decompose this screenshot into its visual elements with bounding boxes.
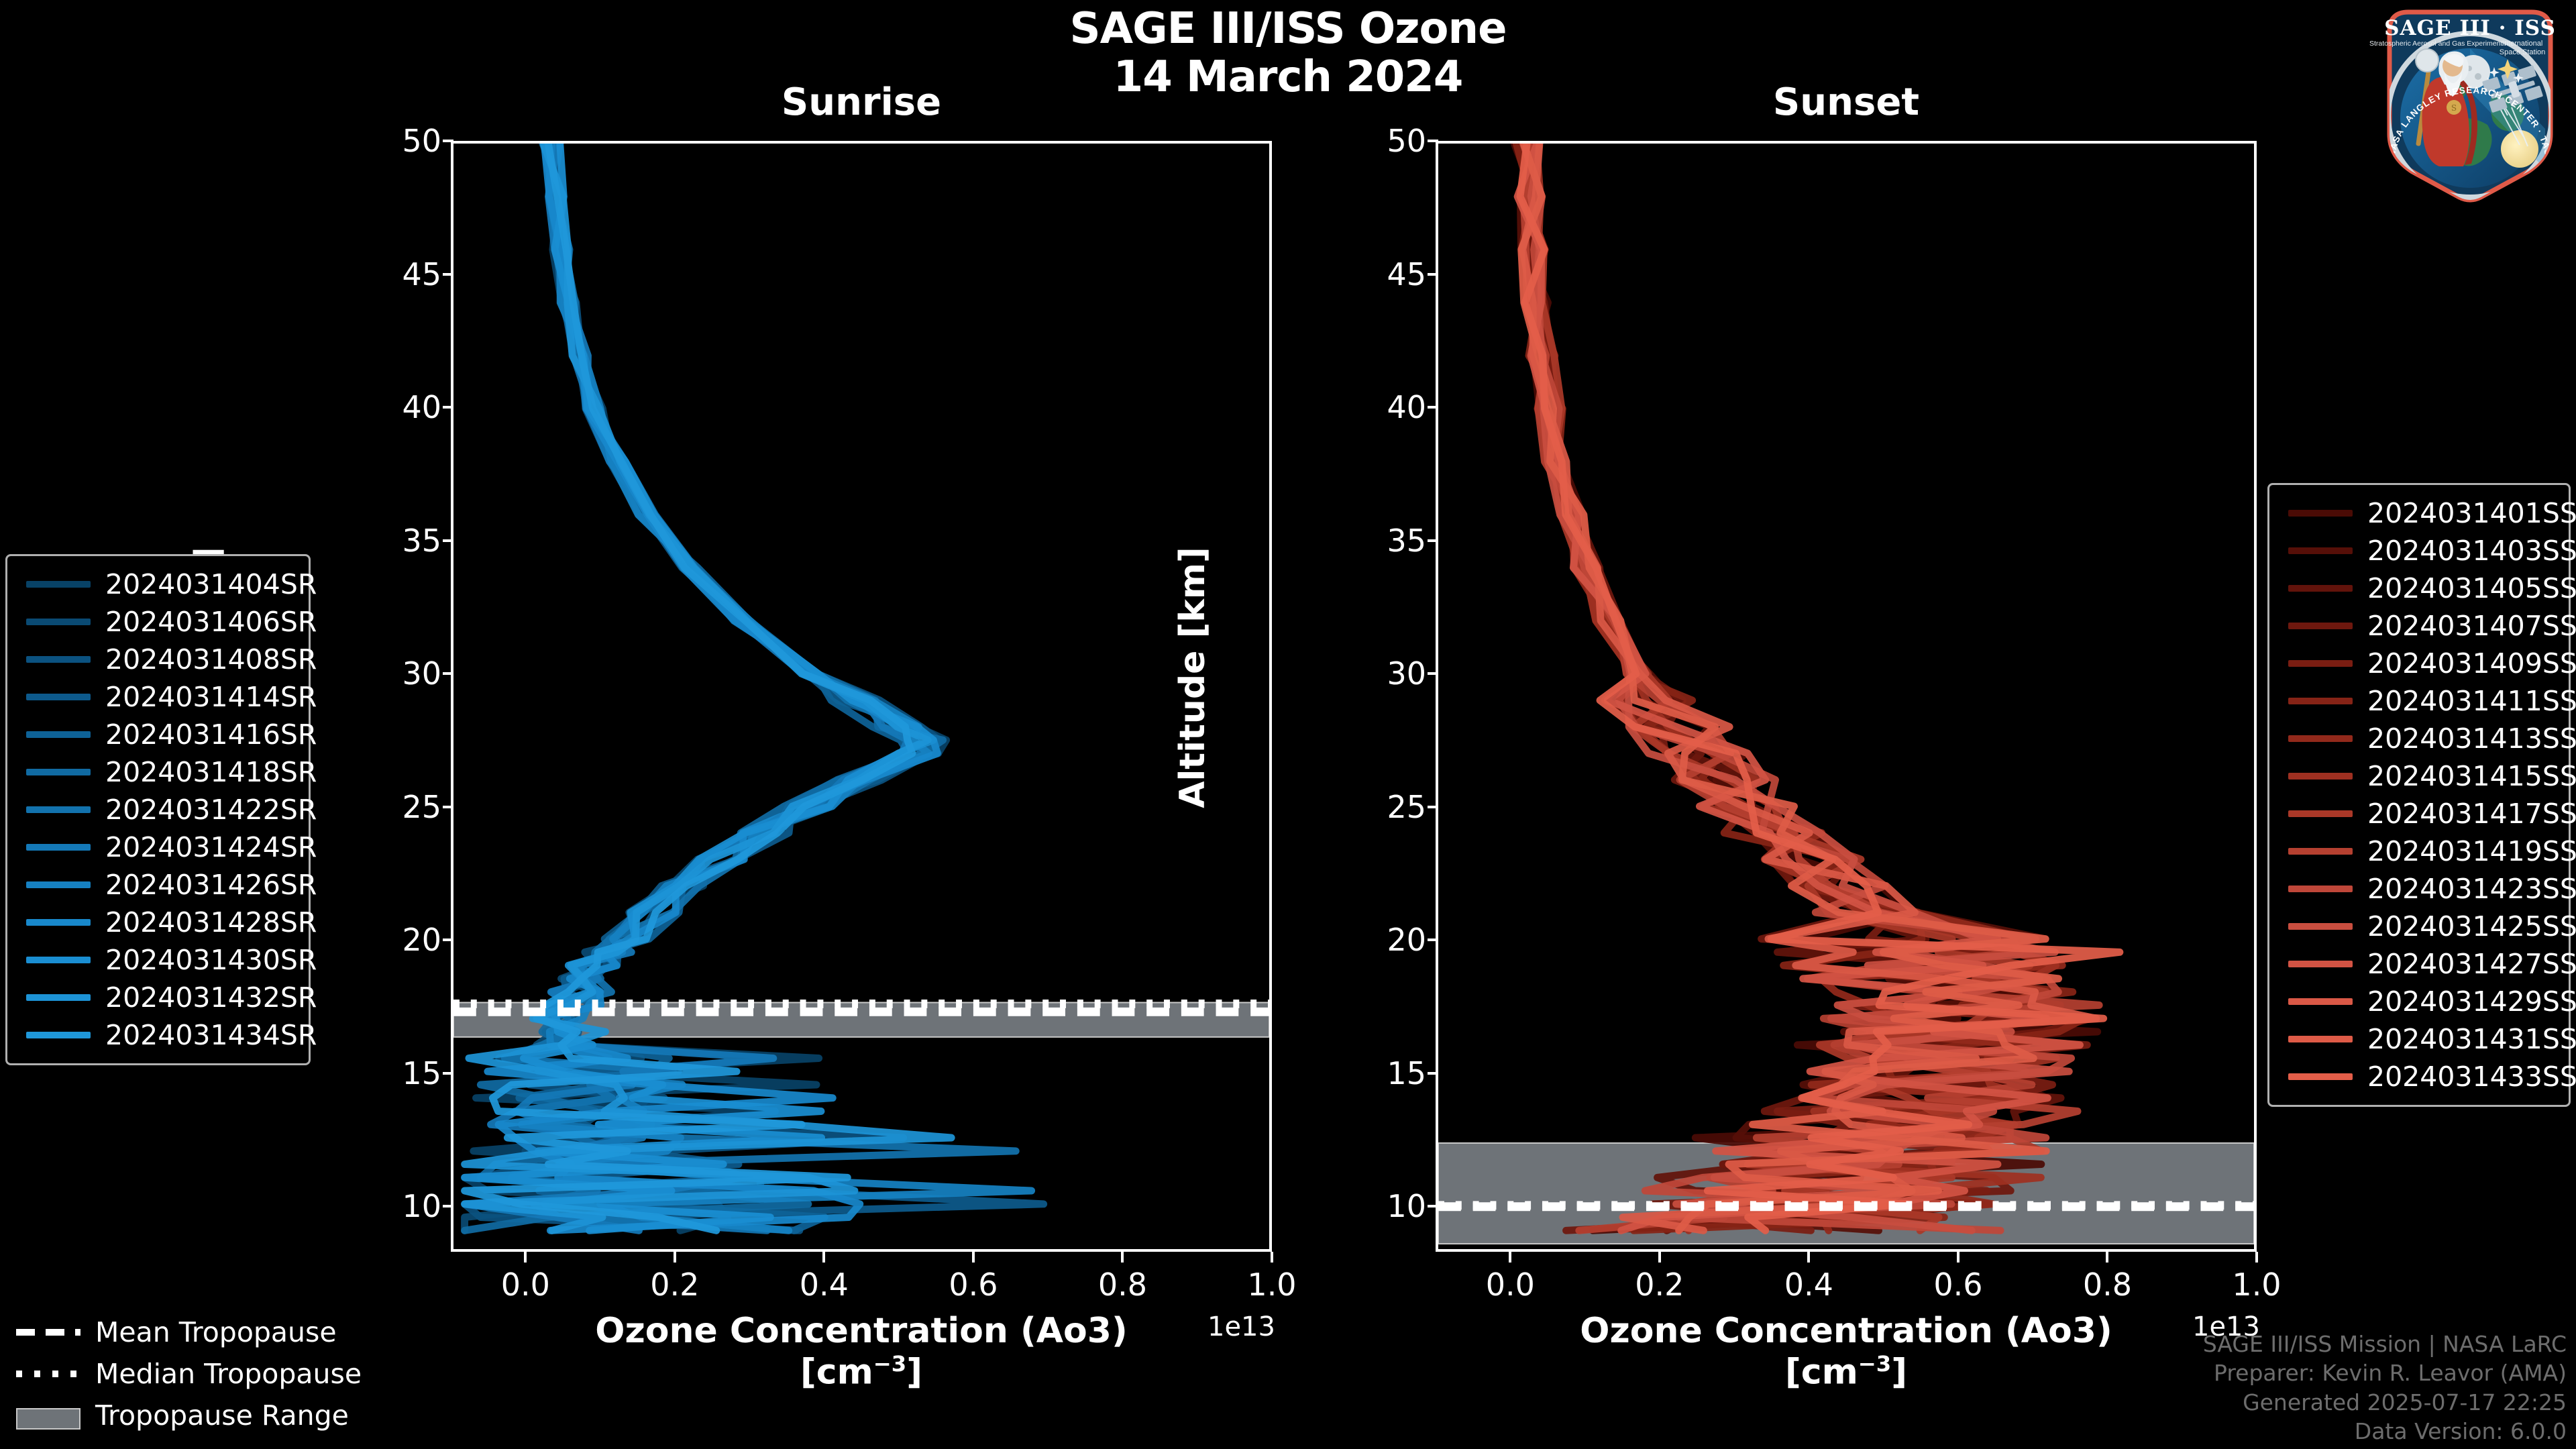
sunrise-profile-line — [504, 144, 1016, 1230]
sunset-legend-color-swatch — [2288, 623, 2353, 629]
sunrise-ytick-label: 20 — [402, 922, 441, 958]
sunrise-ytick-mark — [443, 406, 453, 409]
sunset-legend-color-swatch — [2288, 885, 2353, 892]
median-tropopause-dot-icon — [16, 1366, 80, 1381]
sunset-legend-item[interactable]: 2024031405SS — [2279, 570, 2557, 607]
sunset-legend-color-swatch — [2288, 923, 2353, 930]
sunrise-legend-color-swatch — [26, 694, 91, 700]
sunset-legend-label: 2024031407SS — [2367, 610, 2576, 642]
sunset-legend-color-swatch — [2288, 998, 2353, 1005]
footer-line-3: Generated 2025-07-17 22:25 — [2203, 1388, 2567, 1417]
sunset-legend-label: 2024031415SS — [2367, 760, 2576, 792]
sunset-xtick-mark — [1807, 1252, 1810, 1263]
sunset-ytick-mark — [1428, 140, 1438, 142]
sunrise-legend-label: 2024031416SR — [105, 718, 317, 751]
sunset-legend-item[interactable]: 2024031401SS — [2279, 494, 2557, 532]
sunrise-ytick-label: 35 — [402, 523, 441, 559]
sunrise-legend-color-swatch — [26, 994, 91, 1001]
sunset-xtick-mark — [1957, 1252, 1960, 1263]
sunset-profile-line — [1531, 144, 2069, 1230]
sunset-xtick-label: 0.0 — [1486, 1267, 1535, 1303]
sunset-ytick-mark — [1428, 406, 1438, 409]
sunset-legend-item[interactable]: 2024031409SS — [2279, 645, 2557, 682]
sunset-ytick-label: 50 — [1387, 123, 1426, 159]
footer-attribution: SAGE III/ISS Mission | NASA LaRC Prepare… — [2203, 1330, 2567, 1446]
sunset-ytick-label: 20 — [1387, 922, 1426, 958]
sunset-legend-label: 2024031427SS — [2367, 948, 2576, 980]
sunrise-legend-label: 2024031434SR — [105, 1019, 317, 1051]
sunset-legend-item[interactable]: 2024031429SS — [2279, 983, 2557, 1020]
tropopause-legend-item[interactable]: Mean Tropopause — [9, 1311, 385, 1353]
tropopause-legend-label: Tropopause Range — [95, 1399, 349, 1432]
sunrise-legend-item[interactable]: 2024031408SR — [17, 641, 297, 678]
sunrise-ytick-mark — [443, 273, 453, 276]
sunset-legend-item[interactable]: 2024031433SS — [2279, 1058, 2557, 1095]
sunset-legend-color-swatch — [2288, 848, 2353, 855]
logo-subtitle-right-1: International — [2502, 40, 2543, 48]
sunrise-xtick-mark — [674, 1252, 676, 1263]
sunset-legend-item[interactable]: 2024031413SS — [2279, 720, 2557, 757]
sunset-legend-label: 2024031405SS — [2367, 572, 2576, 604]
sunset-profile-line — [1527, 144, 2046, 1230]
logo-subtitle-right-2: Space Station — [2500, 48, 2546, 56]
sunset-legend-label: 2024031417SS — [2367, 798, 2576, 830]
sunrise-legend-item[interactable]: 2024031432SR — [17, 979, 297, 1016]
sunset-xtick-label: 1.0 — [2232, 1267, 2281, 1303]
tropopause-legend-item[interactable]: Tropopause Range — [9, 1395, 385, 1436]
sunrise-legend-color-swatch — [26, 619, 91, 625]
sunset-legend-color-swatch — [2288, 1036, 2353, 1042]
sunrise-legend-label: 2024031428SR — [105, 906, 317, 938]
footer-line-1: SAGE III/ISS Mission | NASA LaRC — [2203, 1330, 2567, 1359]
sunrise-legend-color-swatch — [26, 731, 91, 738]
sunset-ytick-mark — [1428, 938, 1438, 941]
sunset-legend-item[interactable]: 2024031403SS — [2279, 532, 2557, 570]
logo-title: SAGE III · ISS — [2384, 16, 2556, 40]
sunrise-legend-label: 2024031418SR — [105, 756, 317, 788]
sunset-ytick-label: 10 — [1387, 1188, 1426, 1224]
sunset-legend-color-swatch — [2288, 1073, 2353, 1080]
sunrise-xtick-label: 0.4 — [800, 1267, 849, 1303]
sunrise-xtick-label: 0.0 — [501, 1267, 550, 1303]
sunrise-xlabel-line2: [cm−3] — [451, 1352, 1272, 1393]
sunrise-ytick-mark — [443, 1205, 453, 1207]
sunset-legend-color-swatch — [2288, 961, 2353, 967]
sunset-ytick-mark — [1428, 1072, 1438, 1075]
sunrise-legend-item[interactable]: 2024031406SR — [17, 603, 297, 641]
sunrise-ytick-mark — [443, 672, 453, 675]
sunrise-legend-item[interactable]: 2024031426SR — [17, 866, 297, 904]
sunrise-legend-item[interactable]: 2024031422SR — [17, 791, 297, 828]
sunset-y-axis-label: Altitude [km] — [1173, 543, 1213, 812]
sunset-legend-color-swatch — [2288, 547, 2353, 554]
sunrise-ytick-mark — [443, 140, 453, 142]
sunset-legend-item[interactable]: 2024031415SS — [2279, 757, 2557, 795]
sunrise-xtick-mark — [972, 1252, 975, 1263]
sunset-xtick-mark — [1658, 1252, 1661, 1263]
sunrise-legend-color-swatch — [26, 919, 91, 926]
sunset-legend-item[interactable]: 2024031427SS — [2279, 945, 2557, 983]
sunrise-xtick-mark — [1271, 1252, 1273, 1263]
sunrise-xlabel-line1: Ozone Concentration (Ao3) — [451, 1311, 1272, 1352]
sunset-ytick-mark — [1428, 539, 1438, 542]
sunset-legend-color-swatch — [2288, 660, 2353, 667]
sunset-legend-label: 2024031419SS — [2367, 835, 2576, 867]
sunrise-y-axis: 101520253035404550 — [368, 141, 441, 1252]
sunrise-legend-color-swatch — [26, 581, 91, 588]
svg-text:S: S — [2451, 103, 2457, 113]
sunrise-x-axis-label: Ozone Concentration (Ao3) [cm−3] — [451, 1311, 1272, 1393]
sunset-xlabel-line2: [cm−3] — [1436, 1352, 2257, 1393]
sunset-legend-label: 2024031431SS — [2367, 1023, 2576, 1055]
sunrise-legend-label: 2024031408SR — [105, 643, 317, 676]
sunrise-legend-label: 2024031426SR — [105, 869, 317, 901]
sunrise-legend[interactable]: 2024031404SR2024031406SR2024031408SR2024… — [5, 554, 311, 1065]
sunrise-legend-item[interactable]: 2024031430SR — [17, 941, 297, 979]
sunset-legend-label: 2024031423SS — [2367, 873, 2576, 905]
sunset-ytick-mark — [1428, 672, 1438, 675]
sunset-xtick-mark — [2106, 1252, 2108, 1263]
tropopause-legend-label: Mean Tropopause — [95, 1316, 337, 1348]
sunrise-legend-label: 2024031432SR — [105, 981, 317, 1014]
sunrise-legend-item[interactable]: 2024031428SR — [17, 904, 297, 941]
sunrise-legend-label: 2024031406SR — [105, 606, 317, 638]
sunrise-xtick-mark — [524, 1252, 527, 1263]
sunset-legend-color-swatch — [2288, 585, 2353, 592]
sunrise-legend-color-swatch — [26, 957, 91, 963]
sunrise-xtick-label: 1.0 — [1247, 1267, 1296, 1303]
sunset-legend-color-swatch — [2288, 510, 2353, 517]
sunrise-legend-color-swatch — [26, 769, 91, 775]
sunset-xtick-mark — [2255, 1252, 2258, 1263]
sunrise-legend-item[interactable]: 2024031424SR — [17, 828, 297, 866]
sunset-xlabel-line1: Ozone Concentration (Ao3) — [1436, 1311, 2257, 1352]
sunset-y-axis: 101520253035404550 — [1352, 141, 1426, 1252]
sunrise-plot-area — [451, 141, 1272, 1252]
logo-subtitle-left: Stratospheric Aerosol and Gas Experiment… — [2369, 40, 2510, 48]
sunset-legend-item[interactable]: 2024031419SS — [2279, 833, 2557, 870]
sunrise-legend-item[interactable]: 2024031434SR — [17, 1016, 297, 1054]
sunrise-ytick-label: 25 — [402, 789, 441, 825]
sunrise-legend-label: 2024031424SR — [105, 831, 317, 863]
sunset-ytick-label: 45 — [1387, 256, 1426, 292]
sunrise-legend-color-swatch — [26, 881, 91, 888]
sunset-ytick-mark — [1428, 806, 1438, 808]
sunrise-ytick-label: 45 — [402, 256, 441, 292]
sunset-legend-label: 2024031425SS — [2367, 910, 2576, 943]
sunrise-xtick-label: 0.8 — [1098, 1267, 1147, 1303]
sunset-xtick-mark — [1509, 1252, 1511, 1263]
tropopause-legend[interactable]: Mean TropopauseMedian TropopauseTropopau… — [9, 1311, 385, 1436]
sunset-legend-item[interactable]: 2024031431SS — [2279, 1020, 2557, 1058]
sunset-legend-item[interactable]: 2024031423SS — [2279, 870, 2557, 908]
sunrise-legend-label: 2024031430SR — [105, 944, 317, 976]
footer-line-4: Data Version: 6.0.0 — [2203, 1417, 2567, 1446]
footer-line-2: Preparer: Kevin R. Leavor (AMA) — [2203, 1358, 2567, 1388]
sunset-x-axis: 0.00.20.40.60.81.0 — [1436, 1252, 2257, 1305]
sunrise-ytick-label: 40 — [402, 389, 441, 425]
sunrise-legend-label: 2024031414SR — [105, 681, 317, 713]
sunset-plot-area — [1436, 141, 2257, 1252]
sunset-x-axis-label: Ozone Concentration (Ao3) [cm−3] — [1436, 1311, 2257, 1393]
sunset-legend-item[interactable]: 2024031411SS — [2279, 682, 2557, 720]
mean-tropopause-dash-icon — [16, 1325, 80, 1340]
sunset-legend-item[interactable]: 2024031417SS — [2279, 795, 2557, 833]
sunset-ytick-mark — [1428, 273, 1438, 276]
sunrise-legend-item[interactable]: 2024031418SR — [17, 753, 297, 791]
sunrise-xtick-label: 0.6 — [949, 1267, 998, 1303]
sunrise-ytick-mark — [443, 806, 453, 808]
sunrise-xtick-label: 0.2 — [650, 1267, 699, 1303]
sunrise-exponent-label: 1e13 — [1207, 1311, 1275, 1342]
sunset-legend-label: 2024031429SS — [2367, 985, 2576, 1018]
sunrise-ytick-mark — [443, 938, 453, 941]
sunrise-ytick-label: 50 — [402, 123, 441, 159]
sunrise-legend-item[interactable]: 2024031414SR — [17, 678, 297, 716]
sunset-legend[interactable]: 2024031401SS2024031403SS2024031405SS2024… — [2267, 483, 2571, 1107]
sunrise-ytick-mark — [443, 539, 453, 542]
tropopause-range-patch-icon — [16, 1408, 80, 1423]
sunrise-legend-color-swatch — [26, 656, 91, 663]
sunrise-legend-color-swatch — [26, 806, 91, 813]
sunset-legend-item[interactable]: 2024031407SS — [2279, 607, 2557, 645]
sunset-legend-color-swatch — [2288, 735, 2353, 742]
tropopause-legend-item[interactable]: Median Tropopause — [9, 1353, 385, 1395]
sunset-legend-color-swatch — [2288, 810, 2353, 817]
sunset-xtick-label: 0.6 — [1933, 1267, 1982, 1303]
sunset-legend-label: 2024031401SS — [2367, 497, 2576, 529]
sunrise-legend-label: 2024031422SR — [105, 794, 317, 826]
sunrise-xtick-mark — [1121, 1252, 1124, 1263]
sunrise-legend-item[interactable]: 2024031404SR — [17, 566, 297, 603]
sunset-legend-label: 2024031413SS — [2367, 722, 2576, 755]
sunset-legend-color-swatch — [2288, 773, 2353, 780]
sunrise-ytick-label: 10 — [402, 1188, 441, 1224]
sunset-panel-title: Sunset — [1436, 80, 2257, 124]
sunset-legend-label: 2024031403SS — [2367, 535, 2576, 567]
sunset-xtick-label: 0.2 — [1635, 1267, 1684, 1303]
sunrise-ytick-mark — [443, 1072, 453, 1075]
sunrise-ytick-label: 30 — [402, 655, 441, 692]
sunset-ytick-label: 25 — [1387, 789, 1426, 825]
sunrise-xtick-mark — [822, 1252, 825, 1263]
tropopause-legend-label: Median Tropopause — [95, 1358, 362, 1390]
sunset-ytick-label: 40 — [1387, 389, 1426, 425]
sunset-legend-label: 2024031433SS — [2367, 1061, 2576, 1093]
sunset-xtick-label: 0.4 — [1784, 1267, 1833, 1303]
sunset-xtick-label: 0.8 — [2083, 1267, 2132, 1303]
sunset-ytick-label: 35 — [1387, 523, 1426, 559]
sunset-ytick-label: 30 — [1387, 655, 1426, 692]
sunrise-panel-title: Sunrise — [451, 80, 1272, 124]
sunset-legend-item[interactable]: 2024031425SS — [2279, 908, 2557, 945]
sunrise-legend-label: 2024031404SR — [105, 568, 317, 600]
sunrise-x-axis: 0.00.20.40.60.81.0 — [451, 1252, 1272, 1305]
sunrise-legend-color-swatch — [26, 1032, 91, 1038]
sunrise-legend-color-swatch — [26, 844, 91, 851]
mission-patch-logo: S BALL · NASA LANGLEY RESEARCH CENTER · … — [2369, 3, 2571, 204]
sunset-legend-label: 2024031411SS — [2367, 685, 2576, 717]
sunset-legend-label: 2024031409SS — [2367, 647, 2576, 680]
sunset-legend-color-swatch — [2288, 698, 2353, 704]
sunrise-ytick-label: 15 — [402, 1055, 441, 1091]
sunset-ytick-mark — [1428, 1205, 1438, 1207]
sunset-ytick-label: 15 — [1387, 1055, 1426, 1091]
sunrise-legend-item[interactable]: 2024031416SR — [17, 716, 297, 753]
title-line-1: SAGE III/ISS Ozone — [0, 5, 2576, 54]
